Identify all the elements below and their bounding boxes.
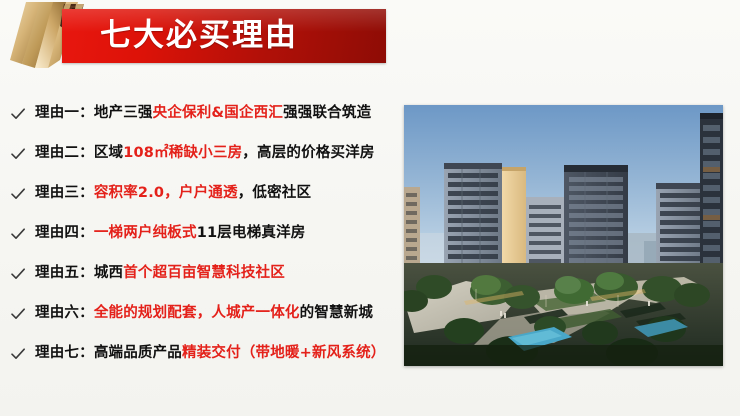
reason-label: 理由六： — [35, 305, 94, 321]
reason-text: 理由二：区域108㎡稀缺小三房，高层的价格买洋房 — [35, 145, 375, 162]
list-item: 理由一：地产三强央企保利&国企西汇强强联合筑造 — [0, 94, 400, 134]
list-item: 理由三：容积率2.0，户户通透，低密社区 — [0, 174, 400, 214]
reason-label: 理由三： — [35, 185, 94, 201]
reason-segment: 的智慧新城 — [300, 305, 374, 321]
title-banner: 七大必买理由 — [62, 9, 386, 63]
list-item: 理由五：城西首个超百亩智慧科技社区 — [0, 254, 400, 294]
reason-segment: 高端品质产品 — [94, 345, 182, 361]
reason-segment-highlight: 央企保利&国企西汇 — [153, 105, 283, 121]
reason-segment-highlight: 108㎡稀缺小三房 — [123, 145, 242, 161]
reason-text: 理由四：一梯两户纯板式11层电梯真洋房 — [35, 225, 306, 242]
reason-text: 理由三：容积率2.0，户户通透，低密社区 — [35, 185, 311, 202]
check-icon — [10, 346, 26, 362]
reason-label: 理由二： — [35, 145, 94, 161]
reason-segment: 城西 — [94, 265, 123, 281]
reason-segment: ，高层的价格买洋房 — [242, 145, 374, 161]
reason-segment-highlight: 首个超百亩智慧科技社区 — [123, 265, 285, 281]
reason-segment: 区域 — [94, 145, 123, 161]
reason-segment-highlight: 容积率2.0，户户通透 — [94, 185, 238, 201]
list-item: 理由二：区域108㎡稀缺小三房，高层的价格买洋房 — [0, 134, 400, 174]
list-item: 理由六：全能的规划配套，人城产一体化的智慧新城 — [0, 294, 400, 334]
list-item: 理由四：一梯两户纯板式11层电梯真洋房 — [0, 214, 400, 254]
page-title: 七大必买理由 — [100, 21, 298, 52]
reason-segment-highlight: 全能的规划配套，人城产一体化 — [94, 305, 300, 321]
check-icon — [10, 106, 26, 122]
reason-segment: 地产三强 — [94, 105, 153, 121]
reason-segment: 强强联合筑造 — [283, 105, 371, 121]
residential-development-rendering — [404, 105, 723, 366]
reason-segment: ，低密社区 — [238, 185, 312, 201]
reason-segment: 11层电梯真洋房 — [197, 225, 306, 241]
reason-segment-highlight: 一梯两户纯板式 — [94, 225, 197, 241]
reason-label: 理由七： — [35, 345, 94, 361]
reason-segment-highlight: 精装交付（带地暖+新风系统） — [182, 345, 385, 361]
check-icon — [10, 146, 26, 162]
slide-canvas: 七大必买理由 理由一：地产三强央企保利&国企西汇强强联合筑造 理由二：区域108… — [0, 0, 740, 416]
reason-text: 理由六：全能的规划配套，人城产一体化的智慧新城 — [35, 305, 373, 322]
reason-label: 理由五： — [35, 265, 94, 281]
check-icon — [10, 226, 26, 242]
list-item: 理由七：高端品质产品精装交付（带地暖+新风系统） — [0, 334, 400, 374]
reason-label: 理由四： — [35, 225, 94, 241]
check-icon — [10, 306, 26, 322]
reasons-list: 理由一：地产三强央企保利&国企西汇强强联合筑造 理由二：区域108㎡稀缺小三房，… — [0, 94, 400, 374]
reason-text: 理由七：高端品质产品精装交付（带地暖+新风系统） — [35, 345, 385, 362]
reason-label: 理由一： — [35, 105, 94, 121]
reason-text: 理由五：城西首个超百亩智慧科技社区 — [35, 265, 285, 282]
check-icon — [10, 266, 26, 282]
check-icon — [10, 186, 26, 202]
reason-text: 理由一：地产三强央企保利&国企西汇强强联合筑造 — [35, 105, 371, 122]
